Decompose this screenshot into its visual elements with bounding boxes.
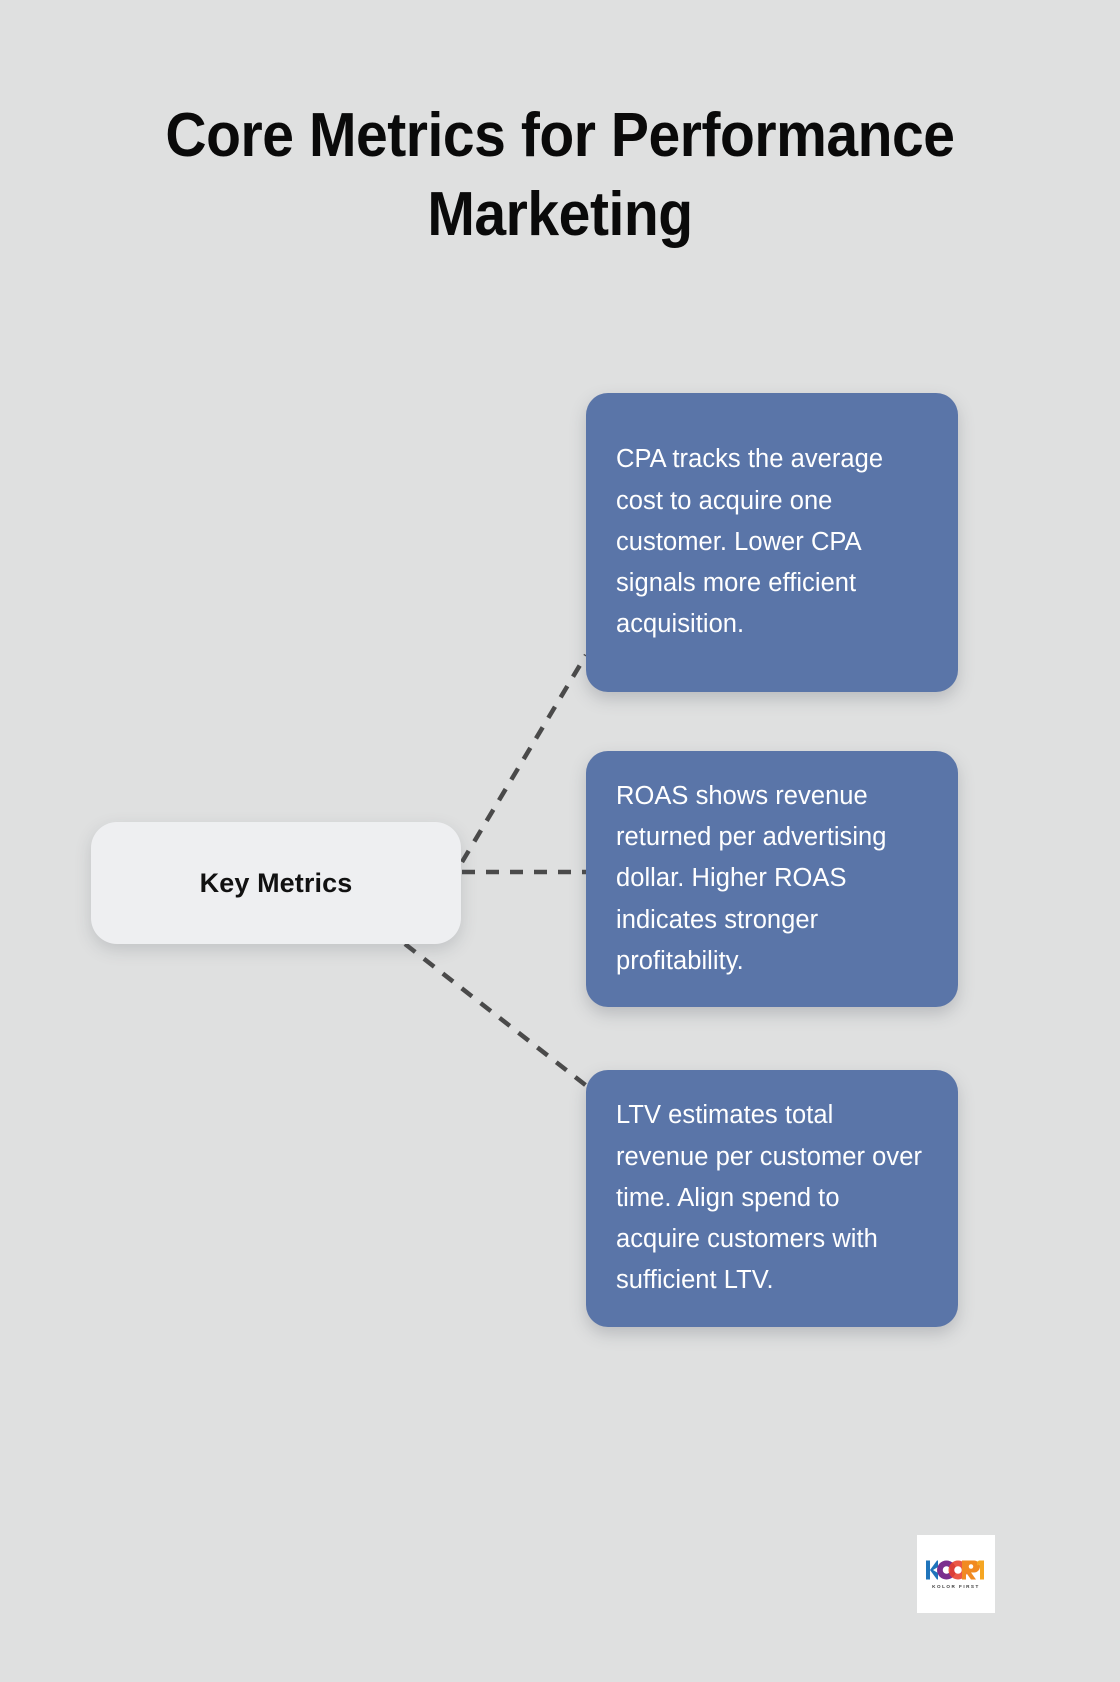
branch-card-text: LTV estimates total revenue per customer…: [586, 1095, 958, 1301]
infographic-canvas: Core Metrics for Performance Marketing K…: [0, 0, 1120, 1682]
connector-line-cpa: [462, 655, 586, 862]
branch-card-text: ROAS shows revenue returned per advertis…: [586, 776, 958, 982]
page-title: Core Metrics for Performance Marketing: [109, 96, 1011, 255]
logo-tagline: KOLOR FIRST: [932, 1584, 980, 1589]
center-node-key-metrics[interactable]: Key Metrics: [91, 822, 461, 944]
branch-card-cpa[interactable]: CPA tracks the average cost to acquire o…: [586, 393, 958, 692]
koor1-wordmark-icon: [925, 1559, 987, 1581]
branch-card-text: CPA tracks the average cost to acquire o…: [586, 439, 958, 645]
branch-card-ltv[interactable]: LTV estimates total revenue per customer…: [586, 1070, 958, 1327]
connector-line-ltv: [405, 944, 588, 1087]
brand-logo: KOLOR FIRST: [917, 1535, 995, 1613]
branch-card-roas[interactable]: ROAS shows revenue returned per advertis…: [586, 751, 958, 1007]
center-node-label: Key Metrics: [200, 868, 353, 899]
